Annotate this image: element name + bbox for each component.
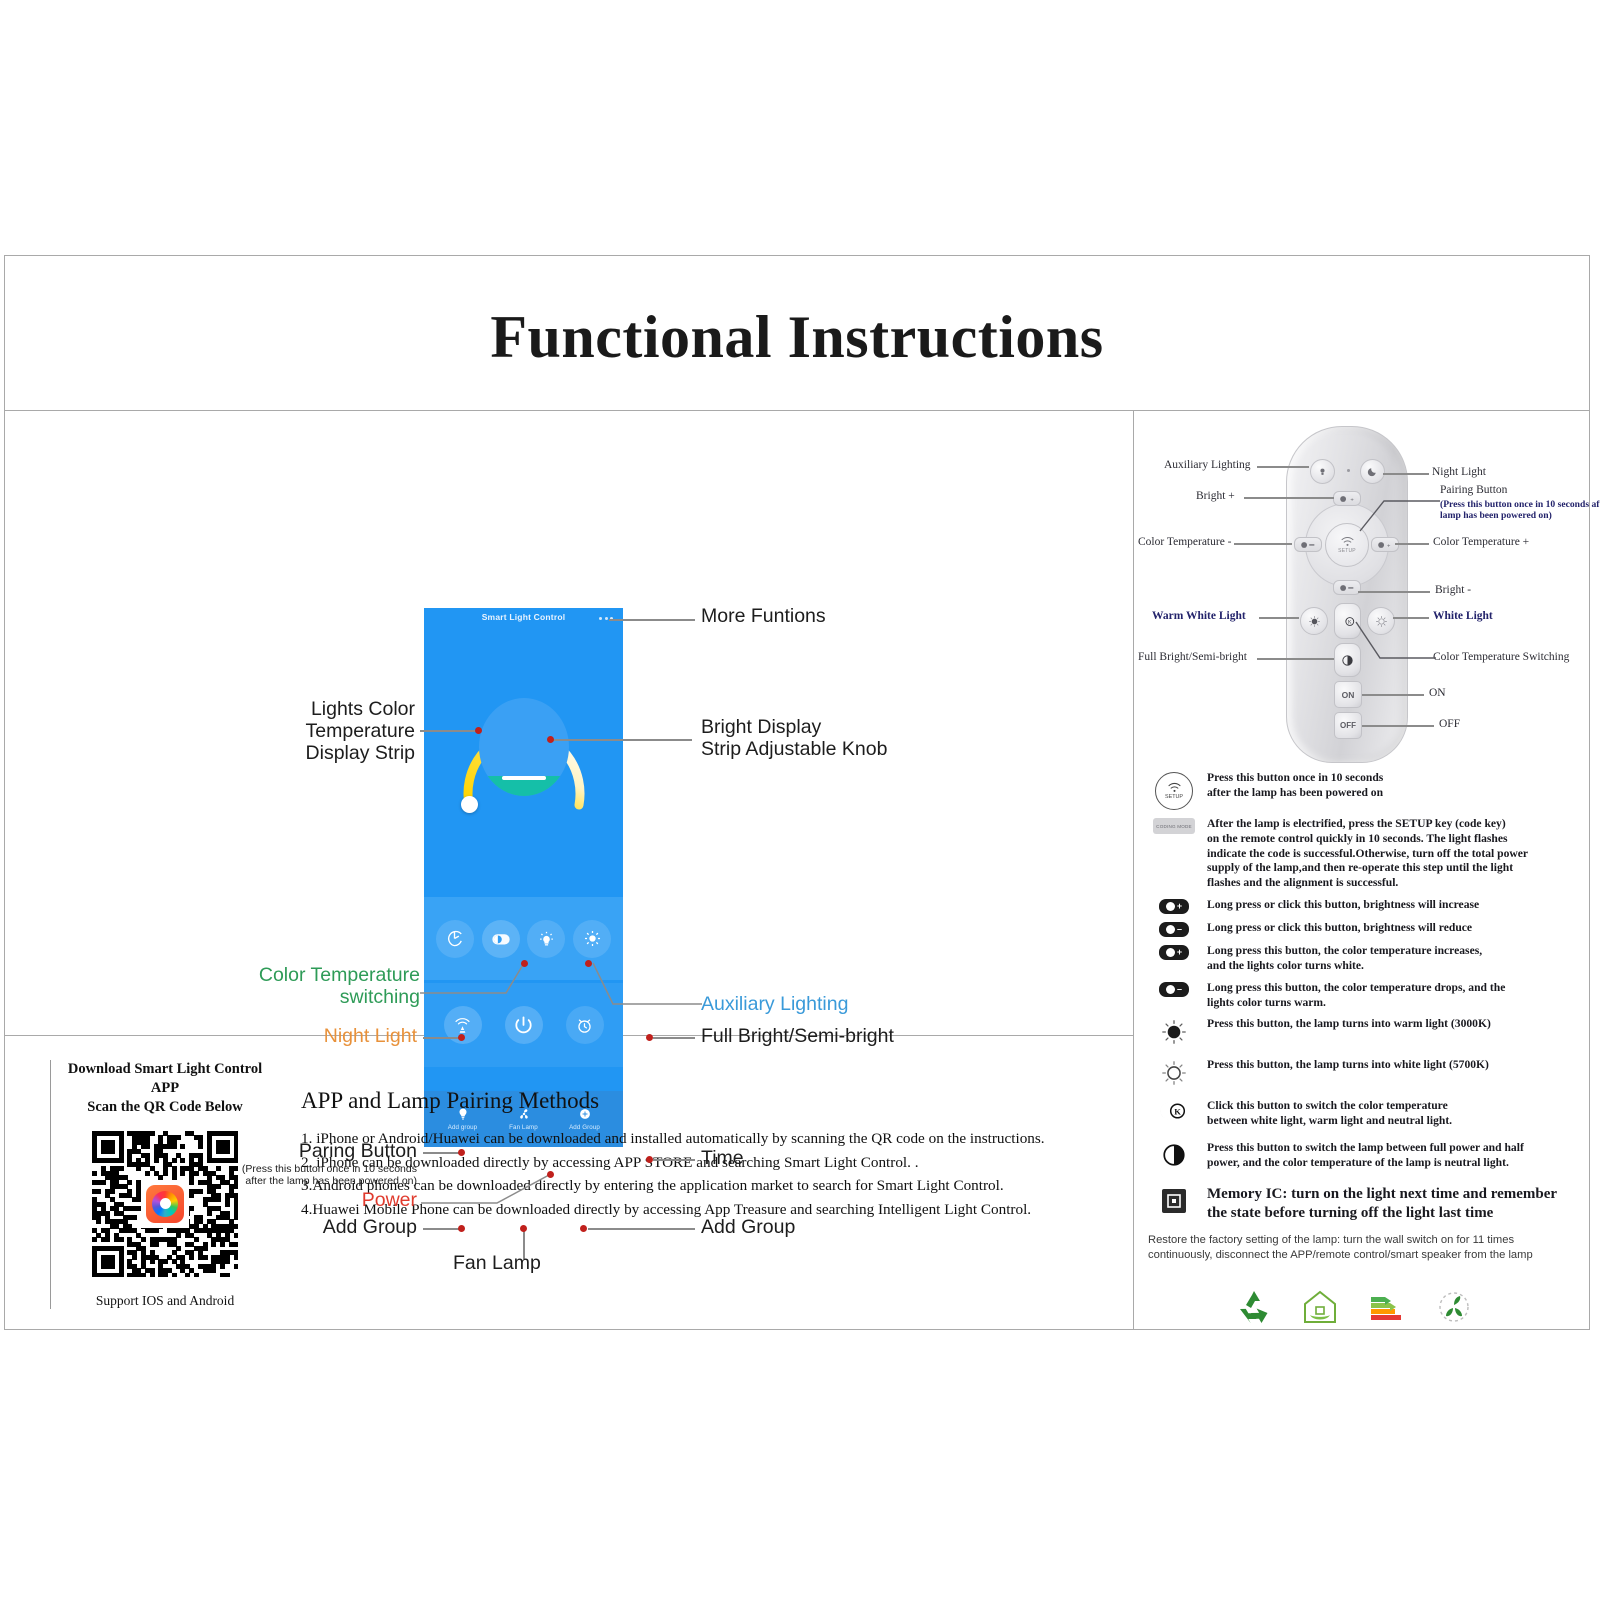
legend-row: SETUP Press this button once in 10 secon…	[1152, 771, 1582, 810]
restore-factory-note: Restore the factory setting of the lamp:…	[1148, 1233, 1576, 1264]
remote-label-pairing-note: (Press this button once in 10 seconds af…	[1440, 499, 1600, 521]
anchor-dot	[547, 736, 554, 743]
warm-light-icon	[1152, 1017, 1196, 1046]
remote-setup-label: SETUP	[1338, 548, 1356, 554]
leader-line	[1358, 591, 1430, 593]
legend-text: Long press or click this button, brightn…	[1207, 921, 1472, 936]
leader-line	[1362, 725, 1434, 727]
legend-row: CODING MODE After the lamp is electrifie…	[1152, 817, 1582, 891]
remote-button-color-temperature-minus[interactable]	[1294, 537, 1322, 552]
legend-text: Memory IC: turn on the light next time a…	[1207, 1185, 1557, 1224]
leader-line	[1234, 543, 1292, 545]
leader-line	[1362, 694, 1424, 696]
anchor-dot	[547, 1171, 554, 1178]
callout-color-temperature-switching: Color Temperature switching	[145, 965, 420, 1009]
leader-line	[588, 1228, 695, 1230]
page-title: Functional Instructions	[490, 303, 1103, 372]
remote-button-auxiliary-lighting[interactable]	[1310, 459, 1335, 484]
leader-line	[1257, 466, 1309, 468]
app-title: Smart Light Control	[424, 612, 623, 622]
remote-label-color-temperature-minus: Color Temperature -	[1138, 536, 1232, 548]
remote-label-color-temperature-plus: Color Temperature +	[1433, 536, 1529, 548]
legend-text: Press this button to switch the lamp bet…	[1207, 1141, 1524, 1171]
brightness-dial[interactable]	[449, 670, 599, 830]
color-temp-plus-icon: +	[1152, 944, 1196, 960]
remote-button-warm-white-light[interactable]	[1300, 607, 1328, 635]
callout-paring-button-note: (Press this button once in 10 seconds af…	[155, 1163, 417, 1187]
dial-knob-handle[interactable]	[461, 796, 478, 813]
leader-line	[577, 911, 702, 1021]
remote-label-night-light: Night Light	[1432, 466, 1486, 478]
remote-button-bright-minus[interactable]	[1333, 580, 1361, 595]
remote-button-night-light[interactable]	[1360, 459, 1385, 484]
download-heading: Download Smart Light Control APP Scan th…	[65, 1060, 265, 1117]
callout-fan-lamp: Fan Lamp	[453, 1253, 541, 1275]
legend-row: + Long press this button, the color temp…	[1152, 944, 1582, 974]
remote-label-off: OFF	[1439, 718, 1460, 730]
remote-label-pairing-button: Pairing Button	[1440, 484, 1507, 496]
remote-label-color-temperature-switching: Color Temperature Switching	[1433, 651, 1569, 663]
leader-line	[1395, 543, 1429, 545]
remote-button-color-temperature-plus[interactable]: +	[1371, 537, 1399, 552]
callout-paring-button: Paring Button	[155, 1141, 417, 1163]
leader-line	[609, 619, 695, 621]
legend-text: Long press this button, the color temper…	[1207, 981, 1505, 1011]
callout-power: Power	[235, 1190, 417, 1212]
remote-on-label: ON	[1342, 690, 1355, 700]
legend-row: Press this button to switch the lamp bet…	[1152, 1141, 1582, 1171]
leader-line	[420, 730, 478, 732]
leader-line	[552, 739, 692, 741]
leader-line	[423, 1228, 461, 1230]
anchor-dot	[520, 1225, 527, 1232]
anchor-dot	[646, 1034, 653, 1041]
callout-bright-display-knob: Bright Display Strip Adjustable Knob	[701, 717, 887, 761]
brightness-minus-icon: –	[1152, 921, 1196, 937]
callout-lights-color-temperature-display-strip: Lights Color Temperature Display Strip	[160, 699, 415, 764]
callout-auxiliary-lighting: Auxiliary Lighting	[701, 994, 848, 1016]
remote-diagram: + + SETUP	[1134, 411, 1589, 766]
remote-led-indicator	[1347, 469, 1350, 472]
callout-add-group-left: Add Group	[175, 1217, 417, 1239]
color-temp-switch-icon: K	[1152, 1099, 1196, 1122]
pairing-title: APP and Lamp Pairing Methods	[301, 1088, 1111, 1114]
legend-text: Long press or click this button, brightn…	[1207, 898, 1479, 913]
remote-label-white-light: White Light	[1433, 610, 1493, 622]
legend-text: Press this button once in 10 seconds aft…	[1207, 771, 1383, 801]
anchor-dot	[580, 1225, 587, 1232]
coding-mode-icon: CODING MODE	[1152, 817, 1196, 834]
dial-inner-disc	[479, 698, 569, 796]
leader-line	[1383, 473, 1429, 475]
remote-panel: + + SETUP	[1134, 411, 1589, 1329]
leader-line	[420, 911, 560, 1001]
remote-label-full-bright-semi-bright: Full Bright/Semi-bright	[1138, 651, 1247, 663]
svg-text:K: K	[1174, 1107, 1181, 1117]
remote-label-bright-minus: Bright -	[1435, 584, 1471, 596]
legend-row: Press this button, the lamp turns into w…	[1152, 1017, 1582, 1046]
remote-label-warm-white-light: Warm White Light	[1152, 610, 1246, 622]
legend-text: Press this button, the lamp turns into w…	[1207, 1017, 1491, 1032]
leader-line	[423, 1037, 461, 1039]
legend-row: K Click this button to switch the color …	[1152, 1099, 1582, 1129]
brightness-plus-icon: +	[1152, 898, 1196, 914]
leader-line	[1344, 616, 1439, 664]
anchor-dot	[475, 727, 482, 734]
half-power-icon	[1152, 1141, 1196, 1168]
anchor-dot	[458, 1034, 465, 1041]
color-temp-minus-icon: –	[1152, 981, 1196, 997]
legend-text: Long press this button, the color temper…	[1207, 944, 1482, 974]
anchor-dot	[458, 1149, 465, 1156]
instruction-sheet: Functional Instructions Smart Light Cont…	[4, 255, 1590, 1330]
anchor-dot	[646, 1156, 653, 1163]
legend-list: SETUP Press this button once in 10 secon…	[1152, 771, 1582, 1231]
legend-text: After the lamp is electrified, press the…	[1207, 817, 1528, 891]
legend-row: – Long press or click this button, brigh…	[1152, 921, 1582, 937]
leader-line	[1244, 497, 1334, 499]
legend-text: Press this button, the lamp turns into w…	[1207, 1058, 1489, 1073]
callout-more-functions: More Funtions	[701, 606, 826, 628]
legend-row: – Long press this button, the color temp…	[1152, 981, 1582, 1011]
energy-rating-icon	[1366, 1287, 1408, 1327]
download-footer: Support IOS and Android	[65, 1293, 265, 1309]
remote-off-label: OFF	[1340, 721, 1356, 730]
dial-indicator-dash	[502, 776, 546, 780]
leader-line	[653, 1037, 695, 1039]
leader-line	[1257, 658, 1334, 660]
legend-text: Click this button to switch the color te…	[1207, 1099, 1452, 1129]
anchor-dot	[458, 1225, 465, 1232]
callout-full-bright-semi-bright: Full Bright/Semi-bright	[701, 1026, 894, 1048]
setup-button-icon: SETUP	[1152, 771, 1196, 810]
legend-row: Press this button, the lamp turns into w…	[1152, 1058, 1582, 1087]
svg-text:+: +	[1386, 543, 1390, 549]
legend-row: Memory IC: turn on the light next time a…	[1152, 1185, 1582, 1224]
remote-button-off[interactable]: OFF	[1334, 712, 1362, 739]
callout-add-group-right: Add Group	[701, 1217, 795, 1239]
memory-ic-icon	[1152, 1185, 1196, 1216]
eco-house-icon	[1300, 1287, 1340, 1327]
leader-line	[423, 1152, 461, 1154]
anchor-dot	[521, 960, 528, 967]
callout-time: Time	[701, 1148, 744, 1170]
remote-label-on: ON	[1429, 687, 1446, 699]
green-leaf-icon	[1434, 1287, 1474, 1327]
anchor-dot	[585, 960, 592, 967]
legend-row: + Long press or click this button, brigh…	[1152, 898, 1582, 914]
app-top-bar: Smart Light Control	[424, 608, 623, 630]
leader-line	[653, 1159, 695, 1161]
recycle-icon	[1234, 1287, 1274, 1327]
leader-line	[1354, 487, 1444, 535]
leader-line	[421, 1163, 551, 1215]
remote-label-bright-plus: Bright +	[1196, 490, 1235, 502]
app-diagram-panel: Smart Light Control	[5, 411, 1134, 1036]
callout-night-light: Night Light	[205, 1026, 417, 1048]
leader-line	[1259, 617, 1299, 619]
title-band: Functional Instructions	[5, 256, 1589, 411]
download-heading-line2: Scan the QR Code Below	[87, 1099, 242, 1115]
remote-button-on[interactable]: ON	[1334, 681, 1362, 708]
download-heading-line1: Download Smart Light Control APP	[68, 1061, 262, 1096]
eco-icon-row	[1234, 1287, 1474, 1327]
white-light-icon	[1152, 1058, 1196, 1087]
remote-label-auxiliary-lighting: Auxiliary Lighting	[1164, 459, 1251, 471]
